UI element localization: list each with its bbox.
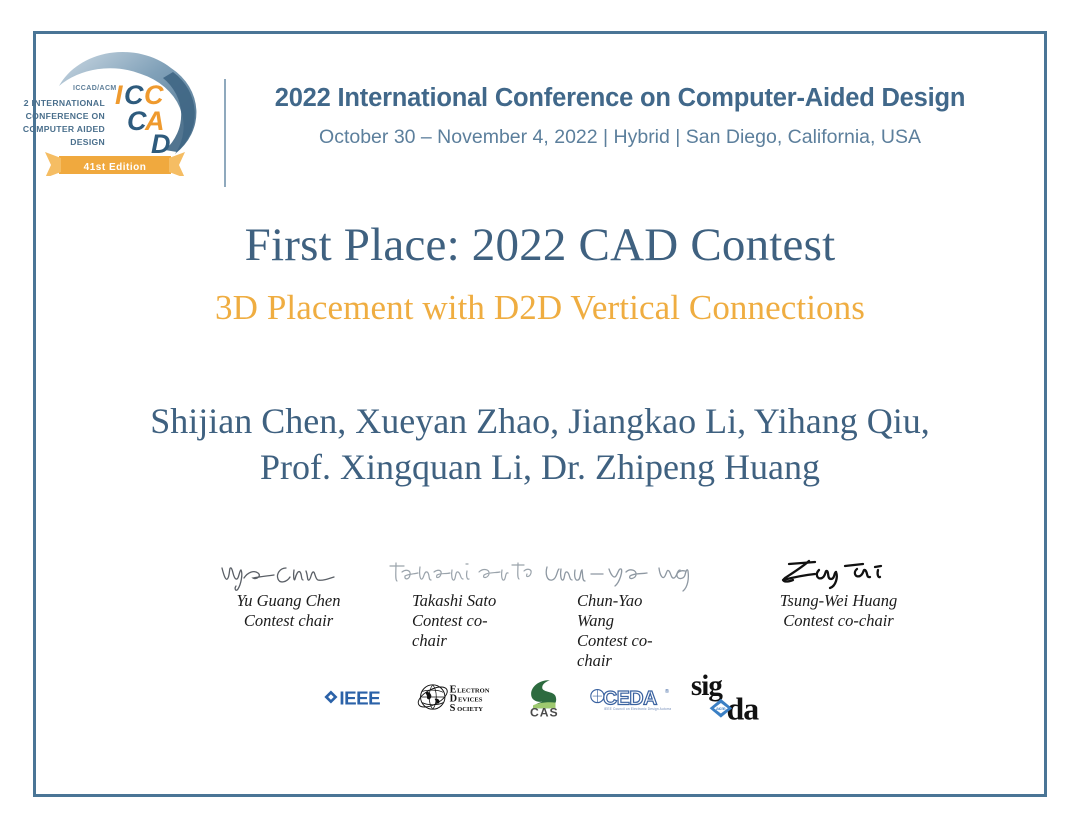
acm-sigda-logo: sig da acm: [689, 669, 775, 725]
signature-role: Contest co-chair: [751, 611, 926, 631]
chun-yao-wang-signature-icon: [541, 558, 716, 594]
signature-name: Tsung-Wei Huang: [751, 591, 926, 611]
signature-role: Contest co-chair: [577, 631, 681, 671]
authors-line-1: Shijian Chen, Xueyan Zhao, Jiangkao Li, …: [0, 398, 1080, 444]
eds-line-2: EVICES: [458, 697, 483, 704]
ieee-cas-logo: CAS: [518, 675, 570, 719]
signature-row: Yu Guang Chen Contest chair Takashi: [186, 558, 946, 668]
svg-text:COMPUTER AIDED: COMPUTER AIDED: [23, 124, 105, 134]
eds-line-1: LECTRON: [457, 687, 490, 694]
ieee-logo: IEEE: [315, 682, 396, 712]
yu-guang-chen-signature-icon: [214, 558, 364, 594]
sigda-inner-label: acm: [716, 706, 725, 711]
svg-text:CONFERENCE ON: CONFERENCE ON: [26, 111, 105, 121]
svg-text:IEEE: IEEE: [339, 687, 380, 708]
signature-block: Tsung-Wei Huang Contest co-chair: [751, 558, 926, 631]
signature-name: Yu Guang Chen: [201, 591, 376, 611]
svg-text:DESIGN: DESIGN: [70, 137, 105, 147]
svg-text:®: ®: [665, 688, 670, 695]
signature-block: Takashi Sato Contest co-chair: [376, 558, 551, 651]
tsung-wei-huang-signature-icon: [771, 558, 906, 594]
iccad-logo: ICCAD/ACM 2022 INTERNATIONAL CONFERENCE …: [23, 46, 223, 176]
signature-role: Contest co-chair: [412, 611, 516, 651]
svg-text:IEEE Council on Electronic Des: IEEE Council on Electronic Design Automa…: [604, 707, 671, 711]
eds-line-3: OCIETY: [457, 706, 483, 713]
svg-text:S: S: [449, 703, 455, 714]
svg-text:I: I: [115, 80, 123, 110]
cas-label: CAS: [530, 706, 559, 719]
signature-block: Chun-Yao Wang Contest co-chair: [541, 558, 716, 671]
takashi-sato-signature-icon: [384, 558, 544, 594]
ieee-eds-logo: E LECTRON D EVICES S OCIETY: [414, 679, 500, 715]
signature-name: Chun-Yao Wang: [577, 591, 681, 631]
authors-block: Shijian Chen, Xueyan Zhao, Jiangkao Li, …: [0, 398, 1080, 490]
svg-text:41st Edition: 41st Edition: [84, 162, 147, 173]
signature-name: Takashi Sato: [412, 591, 516, 611]
authors-line-2: Prof. Xingquan Li, Dr. Zhipeng Huang: [0, 444, 1080, 490]
certificate-header: ICCAD/ACM 2022 INTERNATIONAL CONFERENCE …: [0, 32, 1080, 192]
svg-text:C: C: [127, 106, 147, 136]
sponsor-logo-row: IEEE E LECTRON D EVICES S OCIETY CAS CED…: [315, 666, 775, 728]
header-text-block: 2022 International Conference on Compute…: [240, 84, 1000, 149]
certificate-page: ICCAD/ACM 2022 INTERNATIONAL CONFERENCE …: [0, 0, 1080, 829]
signature-block: Yu Guang Chen Contest chair: [201, 558, 376, 631]
signature-role: Contest chair: [201, 611, 376, 631]
svg-text:ICCAD/ACM: ICCAD/ACM: [73, 85, 117, 92]
sigda-part1: sig: [691, 670, 723, 702]
conference-title: 2022 International Conference on Compute…: [240, 84, 1000, 113]
header-divider: [224, 79, 226, 187]
conference-details: October 30 – November 4, 2022 | Hybrid |…: [240, 126, 1000, 149]
award-title: First Place: 2022 CAD Contest: [0, 218, 1080, 272]
svg-text:D: D: [151, 129, 171, 159]
ieee-ceda-logo: CEDA ® IEEE Council on Electronic Design…: [588, 681, 670, 713]
svg-text:2022 INTERNATIONAL: 2022 INTERNATIONAL: [23, 98, 105, 108]
award-subtitle: 3D Placement with D2D Vertical Connectio…: [0, 288, 1080, 328]
